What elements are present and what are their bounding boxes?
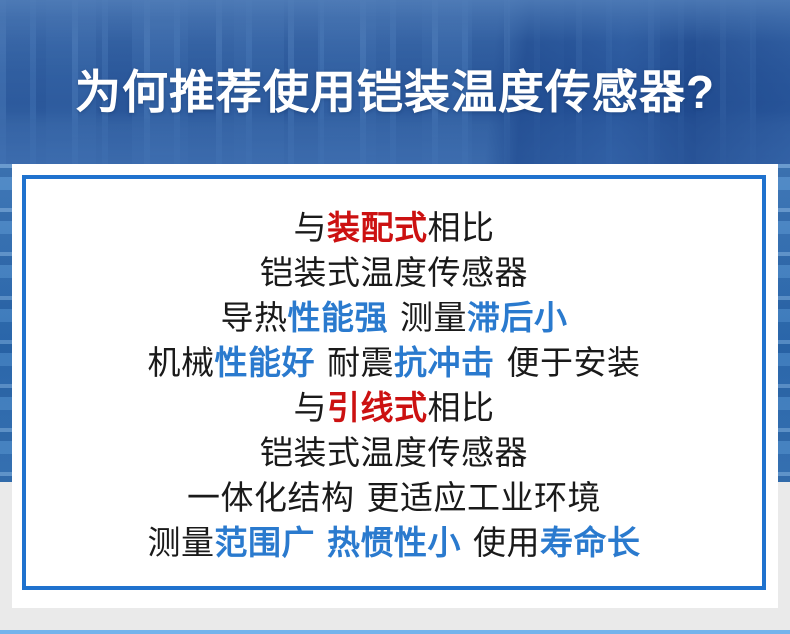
feature-line-benefit-mechanical: 机械性能好耐震抗冲击便于安装 — [26, 340, 762, 385]
feature-line-compare-lead-heading: 与引线式相比 — [26, 385, 762, 430]
blue-border-frame: 与装配式相比铠装式温度传感器导热性能强测量滞后小机械性能好耐震抗冲击便于安装与引… — [22, 175, 766, 590]
feature-segment: 便于安装 — [507, 344, 641, 381]
feature-line-benefit-integrated: 一体化结构更适应工业环境 — [26, 475, 762, 520]
feature-segment: 导热 — [221, 299, 288, 336]
product-detail-page: 为何推荐使用铠装温度传感器? 与装配式相比铠装式温度传感器导热性能强测量滞后小机… — [0, 0, 790, 634]
feature-segment: 性能强 — [288, 299, 389, 336]
feature-segment: 相比 — [428, 209, 495, 246]
content-panel: 与装配式相比铠装式温度传感器导热性能强测量滞后小机械性能好耐震抗冲击便于安装与引… — [12, 164, 778, 608]
hero-banner: 为何推荐使用铠装温度传感器? — [0, 0, 790, 164]
feature-segment: 铠装式温度传感器 — [260, 434, 528, 471]
feature-segment: 与 — [294, 209, 328, 246]
feature-segment: 抗冲击 — [394, 344, 495, 381]
feature-line-benefit-range: 测量范围广热惯性小使用寿命长 — [26, 520, 762, 565]
feature-segment: 铠装式温度传感器 — [260, 254, 528, 291]
feature-segment: 耐震 — [327, 344, 394, 381]
left-gray-filler — [0, 482, 12, 608]
feature-segment: 滞后小 — [467, 299, 568, 336]
feature-segment: 相比 — [428, 389, 495, 426]
feature-segment: 一体化结构 — [187, 479, 355, 516]
page-title: 为何推荐使用铠装温度传感器? — [0, 66, 790, 118]
feature-segment: 性能好 — [215, 344, 316, 381]
feature-segment: 更适应工业环境 — [367, 479, 602, 516]
right-photo-strip — [778, 164, 790, 482]
feature-segment: 测量 — [400, 299, 467, 336]
left-photo-strip — [0, 164, 12, 482]
feature-segment: 热惯性小 — [327, 524, 461, 561]
feature-segment: 范围广 — [215, 524, 316, 561]
footer-gray-band — [0, 608, 790, 630]
feature-segment: 寿命长 — [540, 524, 641, 561]
feature-line-benefit-thermal: 导热性能强测量滞后小 — [26, 295, 762, 340]
feature-segment: 机械 — [148, 344, 215, 381]
feature-segment: 测量 — [148, 524, 215, 561]
right-gray-filler — [778, 482, 790, 608]
feature-line-list: 与装配式相比铠装式温度传感器导热性能强测量滞后小机械性能好耐震抗冲击便于安装与引… — [26, 205, 762, 565]
feature-line-product-name-2: 铠装式温度传感器 — [26, 430, 762, 475]
feature-line-product-name-1: 铠装式温度传感器 — [26, 250, 762, 295]
feature-segment: 引线式 — [327, 389, 428, 426]
feature-line-compare-assembled-heading: 与装配式相比 — [26, 205, 762, 250]
footer-accent-band — [0, 630, 790, 634]
feature-segment: 使用 — [473, 524, 540, 561]
feature-segment: 与 — [294, 389, 328, 426]
feature-segment: 装配式 — [327, 209, 428, 246]
